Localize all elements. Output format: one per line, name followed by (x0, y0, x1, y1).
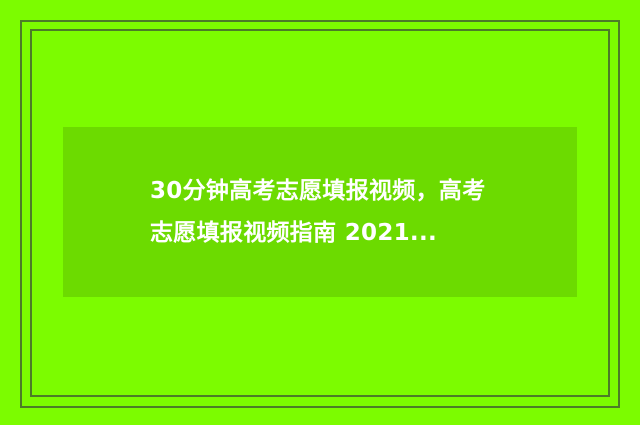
caption-overlay-band: 30分钟高考志愿填报视频，高考志愿填报视频指南 2021... (63, 127, 577, 297)
caption-title: 30分钟高考志愿填报视频，高考志愿填报视频指南 2021... (150, 170, 495, 254)
poster-thumbnail: 30分钟高考志愿填报视频，高考志愿填报视频指南 2021... (0, 0, 640, 425)
